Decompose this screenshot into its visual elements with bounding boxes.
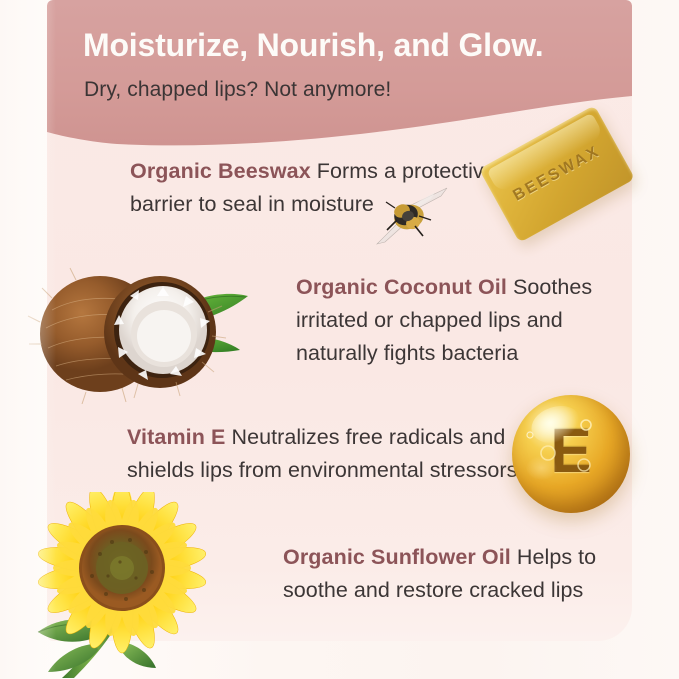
ingredient-lead-beeswax: Organic Beeswax — [130, 159, 311, 183]
page-subtitle: Dry, chapped lips? Not anymore! — [84, 77, 604, 103]
sunflower-image — [18, 492, 234, 679]
ingredient-text-sunflower: Organic Sunflower Oil Helps to soothe an… — [283, 541, 632, 607]
page-title: Moisturize, Nourish, and Glow. — [83, 26, 623, 64]
beeswax-bar-image: BEESWAX — [487, 118, 657, 268]
ingredient-lead-coconut: Organic Coconut Oil — [296, 275, 507, 299]
ingredient-lead-sunflower: Organic Sunflower Oil — [283, 545, 511, 569]
coconut-image — [26, 252, 254, 404]
ingredient-lead-vitamin-e: Vitamin E — [127, 425, 225, 449]
beeswax-bar-shape: BEESWAX — [479, 105, 635, 242]
ingredient-text-vitamin-e: Vitamin E Neutralizes free radicals and … — [127, 421, 567, 487]
infographic-canvas: Moisturize, Nourish, and Glow. Dry, chap… — [0, 0, 679, 679]
ingredient-text-coconut: Organic Coconut Oil Soothes irritated or… — [296, 271, 632, 370]
bee-image — [375, 186, 449, 248]
beeswax-bar-label: BEESWAX — [479, 105, 635, 242]
vitamin-e-capsule-image: E — [512, 395, 630, 513]
